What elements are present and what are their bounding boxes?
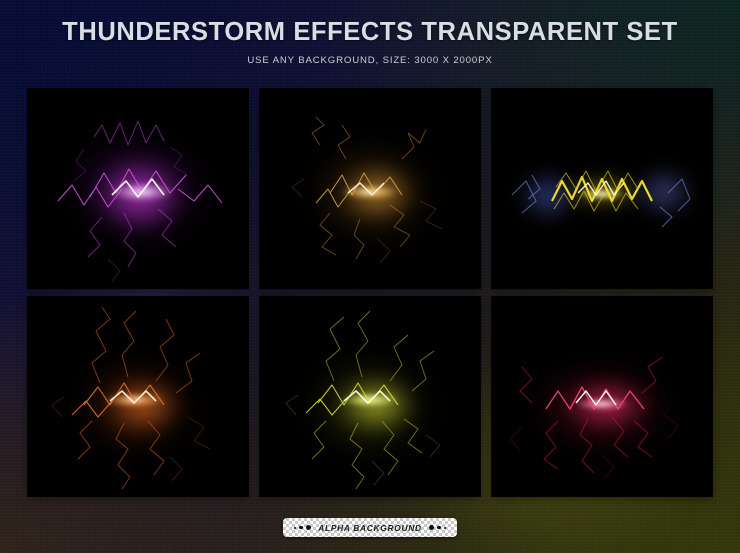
golden-lightning-effect xyxy=(260,89,480,288)
badge-dots-left xyxy=(294,525,312,530)
yellow-blue-lightning-effect xyxy=(492,89,712,288)
page-title: THUNDERSTORM EFFECTS TRANSPARENT SET xyxy=(0,18,740,46)
preview-panel-yellow-blue[interactable] xyxy=(492,89,712,288)
dot-medium-icon xyxy=(299,526,303,530)
purple-lightning-effect xyxy=(28,89,248,288)
preview-panel-pink[interactable] xyxy=(492,297,712,496)
dot-large-icon xyxy=(306,525,311,530)
dot-large-icon xyxy=(429,525,434,530)
preview-panel-golden[interactable] xyxy=(260,89,480,288)
orange-lightning-effect xyxy=(28,297,248,496)
preview-panel-orange[interactable] xyxy=(28,297,248,496)
dot-small-icon xyxy=(294,527,296,529)
badge-dots-right xyxy=(429,525,447,530)
preview-panel-green[interactable] xyxy=(260,297,480,496)
dot-small-icon xyxy=(444,527,446,529)
dot-medium-icon xyxy=(437,526,441,530)
preview-grid xyxy=(28,89,712,496)
page-subtitle: USE ANY BACKGROUND, SIZE: 3000 X 2000PX xyxy=(0,55,740,66)
alpha-badge-label: ALPHA BACKGROUND xyxy=(318,523,421,533)
poster-canvas: THUNDERSTORM EFFECTS TRANSPARENT SET USE… xyxy=(0,0,740,553)
pink-lightning-effect xyxy=(492,297,712,496)
green-lightning-effect xyxy=(260,297,480,496)
alpha-badge-container: ALPHA BACKGROUND xyxy=(0,516,740,538)
poster-header: THUNDERSTORM EFFECTS TRANSPARENT SET USE… xyxy=(0,18,740,66)
preview-panel-purple[interactable] xyxy=(28,89,248,288)
alpha-background-badge[interactable]: ALPHA BACKGROUND xyxy=(283,518,457,537)
